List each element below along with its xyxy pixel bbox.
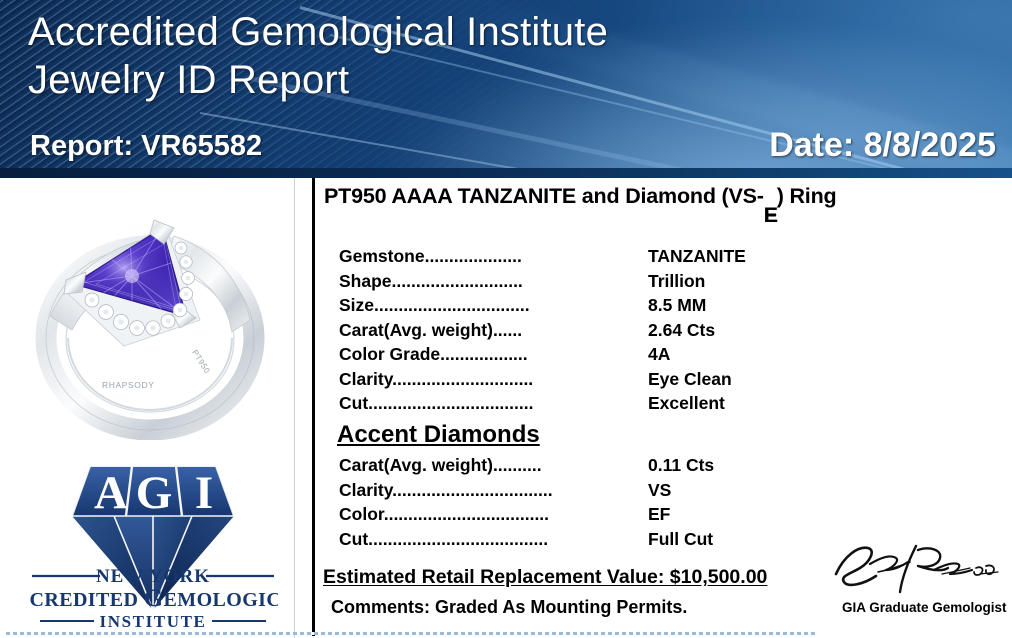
spec-value: Trillion (648, 271, 705, 292)
report-header: Accredited Gemological Institute Jewelry… (0, 0, 1012, 178)
gemologist-signature-block: GIA Graduate Gemologist (830, 540, 1012, 632)
bottom-dashed-rule (6, 632, 818, 635)
report-number: Report: VR65582 (30, 130, 262, 163)
agi-logo: A G I NEW YORK ACCREDITED GEMOLOGICAL IN… (28, 458, 278, 633)
spec-label: Shape........................... (339, 271, 523, 292)
logo-letter-i: I (195, 467, 213, 519)
spec-row: Clarity............................. Eye… (315, 369, 1012, 394)
spec-label: Color Grade.................. (339, 344, 528, 365)
logo-letter-a: A (94, 467, 128, 519)
spec-row: Gemstone.................... TANZANITE (315, 246, 1012, 271)
spec-value: EF (648, 504, 670, 525)
spec-value: VS (648, 480, 671, 501)
spec-label: Clarity............................. (339, 369, 533, 390)
institute-title-line1: Accredited Gemological Institute (28, 10, 608, 54)
left-column: RHAPSODY PT950 (0, 178, 295, 638)
institute-title-line2: Jewelry ID Report (28, 56, 608, 104)
spec-row: Clarity.................................… (315, 480, 1012, 505)
spec-value: 8.5 MM (648, 295, 706, 316)
right-column: PT950 AAAA TANZANITE and Diamond (VS-EF)… (315, 178, 1012, 638)
gemstone-spec-table: Gemstone.................... TANZANITE S… (315, 246, 1012, 418)
spec-value: 4A (648, 344, 670, 365)
spec-value: Full Cut (648, 529, 713, 550)
spec-row: Color Grade.................. 4A (315, 344, 1012, 369)
header-bottom-band (0, 168, 1012, 178)
accent-diamonds-spec-table: Carat(Avg. weight).......... 0.11 Cts Cl… (315, 455, 1012, 553)
institute-title: Accredited Gemological Institute Jewelry… (28, 8, 608, 104)
item-description-title: PT950 AAAA TANZANITE and Diamond (VS-EF)… (324, 184, 836, 209)
ring-photograph: RHAPSODY PT950 (14, 188, 286, 440)
spec-row: Shape........................... Trillio… (315, 271, 1012, 296)
spec-value: Excellent (648, 393, 725, 414)
comments-line: Comments: Graded As Mounting Permits. (331, 597, 687, 618)
spec-value: Eye Clean (648, 369, 732, 390)
spec-value: 0.11 Cts (648, 455, 714, 476)
spec-label: Clarity................................. (339, 480, 553, 501)
signature-caption: GIA Graduate Gemologist (842, 600, 1007, 615)
signature-icon (830, 540, 1005, 598)
item-title-f: F (764, 203, 777, 228)
ring-engraving-brand: RHAPSODY (102, 380, 155, 390)
spec-value: TANZANITE (648, 246, 746, 267)
logo-new-york: NEW YORK (96, 566, 210, 587)
spec-value: 2.64 Cts (648, 320, 715, 341)
spec-label: Size................................ (339, 295, 530, 316)
spec-label: Gemstone.................... (339, 246, 522, 267)
spec-row: Color.................................. … (315, 504, 1012, 529)
item-title-prefix: PT950 AAAA TANZANITE and Diamond (VS- (324, 184, 764, 208)
spec-row: Cut.................................. Ex… (315, 393, 1012, 418)
estimated-retail-value: Estimated Retail Replacement Value: $10,… (323, 566, 767, 589)
spec-row: Carat(Avg. weight).......... 0.11 Cts (315, 455, 1012, 480)
spec-row: Carat(Avg. weight)...... 2.64 Cts (315, 320, 1012, 345)
spec-label: Carat(Avg. weight).......... (339, 455, 542, 476)
spec-label: Color.................................. (339, 504, 549, 525)
accent-diamonds-heading: Accent Diamonds (337, 421, 540, 449)
report-body: RHAPSODY PT950 (0, 178, 1012, 638)
spec-label: Carat(Avg. weight)...... (339, 320, 522, 341)
spec-label: Cut.................................. (339, 393, 533, 414)
spec-label: Cut..................................... (339, 529, 548, 550)
report-page: Accredited Gemological Institute Jewelry… (0, 0, 1012, 638)
report-date: Date: 8/8/2025 (769, 126, 996, 165)
logo-accredited-gemological: ACCREDITED GEMOLOGICAL (28, 585, 278, 612)
spec-row: Size................................ 8.5… (315, 295, 1012, 320)
item-title-suffix: ) Ring (777, 184, 837, 208)
logo-letter-g: G (136, 467, 173, 519)
logo-institute: INSTITUTE (100, 612, 207, 631)
